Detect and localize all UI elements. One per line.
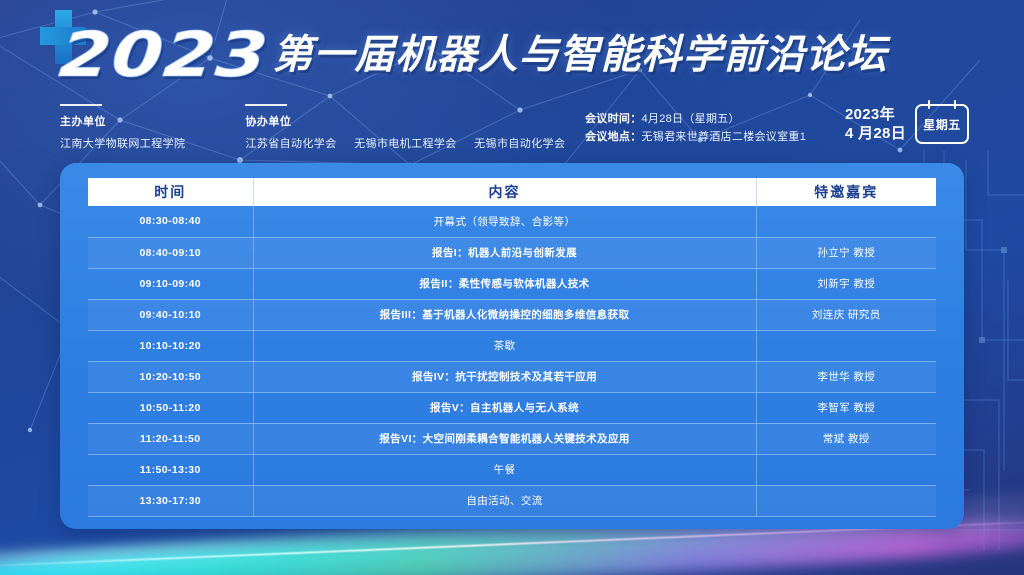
cohost-name: 无锡市电机工程学会 — [354, 138, 457, 150]
weekday-label: 星期五 — [923, 116, 961, 133]
cell-guest — [756, 330, 936, 361]
cohost-names: 江苏省自动化学会 无锡市电机工程学会 无锡市自动化学会 — [245, 135, 579, 151]
divider — [60, 104, 102, 106]
cell-content: 自由活动、交流 — [253, 485, 756, 516]
table-row: 09:40-10:10报告III：基于机器人化微纳操控的细胞多维信息获取刘连庆 … — [88, 299, 936, 330]
date-text: 2023年 4 月28日 — [845, 105, 906, 143]
table-row: 08:40-09:10报告I：机器人前沿与创新发展孙立宁 教授 — [88, 237, 936, 268]
cell-content: 报告VI：大空间刚柔耦合智能机器人关键技术及应用 — [253, 423, 756, 454]
table-row: 10:20-10:50报告IV：抗干扰控制技术及其若干应用李世华 教授 — [88, 361, 936, 392]
cell-content: 报告III：基于机器人化微纳操控的细胞多维信息获取 — [253, 299, 756, 330]
meeting-place-value: 无锡君来世尊酒店二楼会议室重1 — [642, 131, 807, 143]
meeting-place-label: 会议地点： — [585, 131, 642, 143]
host-organizer: 主办单位 江南大学物联网工程学院 — [60, 104, 185, 151]
column-header-time: 时间 — [88, 178, 253, 206]
cell-guest: 常斌 教授 — [756, 423, 936, 454]
cell-content: 开幕式（领导致辞、合影等） — [253, 206, 756, 237]
cell-time: 08:30-08:40 — [88, 206, 253, 237]
cell-guest: 刘新宇 教授 — [756, 268, 936, 299]
cell-time: 11:50-13:30 — [88, 454, 253, 485]
column-header-content: 内容 — [253, 178, 756, 206]
cohost-name: 无锡市自动化学会 — [474, 138, 565, 150]
table-header-row: 时间 内容 特邀嘉宾 — [88, 178, 936, 206]
cohost-label: 协办单位 — [245, 113, 579, 129]
cell-time: 09:10-09:40 — [88, 268, 253, 299]
meeting-time-label: 会议时间： — [585, 113, 642, 125]
date-badge: 2023年 4 月28日 星期五 — [845, 104, 969, 144]
table-row: 10:10-10:20茶歇 — [88, 330, 936, 361]
meeting-info: 会议时间：4月28日（星期五） 会议地点：无锡君来世尊酒店二楼会议室重1 — [585, 110, 806, 146]
schedule-table: 时间 内容 特邀嘉宾 08:30-08:40开幕式（领导致辞、合影等）08:40… — [88, 178, 936, 517]
cell-time: 09:40-10:10 — [88, 299, 253, 330]
meeting-time-value: 4月28日（星期五） — [642, 113, 740, 125]
cell-content: 报告V：自主机器人与无人系统 — [253, 392, 756, 423]
table-body: 08:30-08:40开幕式（领导致辞、合影等）08:40-09:10报告I：机… — [88, 206, 936, 516]
calendar-icon: 星期五 — [915, 104, 969, 144]
cell-guest: 刘连庆 研究员 — [756, 299, 936, 330]
cell-time: 08:40-09:10 — [88, 237, 253, 268]
cell-content: 报告I：机器人前沿与创新发展 — [253, 237, 756, 268]
cohost-name: 江苏省自动化学会 — [245, 138, 336, 150]
cell-content: 茶歇 — [253, 330, 756, 361]
cell-content: 报告II：柔性传感与软体机器人技术 — [253, 268, 756, 299]
table-row: 10:50-11:20报告V：自主机器人与无人系统李智军 教授 — [88, 392, 936, 423]
table-row: 11:50-13:30午餐 — [88, 454, 936, 485]
cell-guest — [756, 485, 936, 516]
table-row: 13:30-17:30自由活动、交流 — [88, 485, 936, 516]
cell-time: 11:20-11:50 — [88, 423, 253, 454]
year-logo: 2023 — [57, 24, 298, 86]
date-day: 4 月28日 — [845, 124, 906, 143]
title-block: 2023 第一届机器人与智能科学前沿论坛 — [60, 24, 888, 86]
table-row: 09:10-09:40报告II：柔性传感与软体机器人技术刘新宇 教授 — [88, 268, 936, 299]
cell-time: 10:20-10:50 — [88, 361, 253, 392]
cell-content: 午餐 — [253, 454, 756, 485]
cell-time: 13:30-17:30 — [88, 485, 253, 516]
cell-guest: 李世华 教授 — [756, 361, 936, 392]
table-row: 11:20-11:50报告VI：大空间刚柔耦合智能机器人关键技术及应用常斌 教授 — [88, 423, 936, 454]
cell-guest: 李智军 教授 — [756, 392, 936, 423]
host-label: 主办单位 — [60, 113, 185, 129]
meeting-place-row: 会议地点：无锡君来世尊酒店二楼会议室重1 — [585, 128, 806, 146]
cell-content: 报告IV：抗干扰控制技术及其若干应用 — [253, 361, 756, 392]
host-name: 江南大学物联网工程学院 — [60, 135, 185, 151]
schedule-card: 时间 内容 特邀嘉宾 08:30-08:40开幕式（领导致辞、合影等）08:40… — [60, 163, 964, 529]
poster-header: 2023 第一届机器人与智能科学前沿论坛 主办单位 江南大学物联网工程学院 协办… — [0, 0, 1024, 160]
cell-guest: 孙立宁 教授 — [756, 237, 936, 268]
divider — [245, 104, 287, 106]
page-title: 第一届机器人与智能科学前沿论坛 — [273, 35, 888, 75]
cell-guest — [756, 206, 936, 237]
table-head: 时间 内容 特邀嘉宾 — [88, 178, 936, 206]
cell-guest — [756, 454, 936, 485]
cell-time: 10:10-10:20 — [88, 330, 253, 361]
meeting-time-row: 会议时间：4月28日（星期五） — [585, 110, 806, 128]
cell-time: 10:50-11:20 — [88, 392, 253, 423]
table-row: 08:30-08:40开幕式（领导致辞、合影等） — [88, 206, 936, 237]
poster-root: 2023 第一届机器人与智能科学前沿论坛 主办单位 江南大学物联网工程学院 协办… — [0, 0, 1024, 575]
column-header-guest: 特邀嘉宾 — [756, 178, 936, 206]
organizers-block: 主办单位 江南大学物联网工程学院 协办单位 江苏省自动化学会 无锡市电机工程学会… — [60, 104, 579, 151]
date-year: 2023年 — [845, 105, 906, 124]
cohost-organizer: 协办单位 江苏省自动化学会 无锡市电机工程学会 无锡市自动化学会 — [245, 104, 579, 151]
